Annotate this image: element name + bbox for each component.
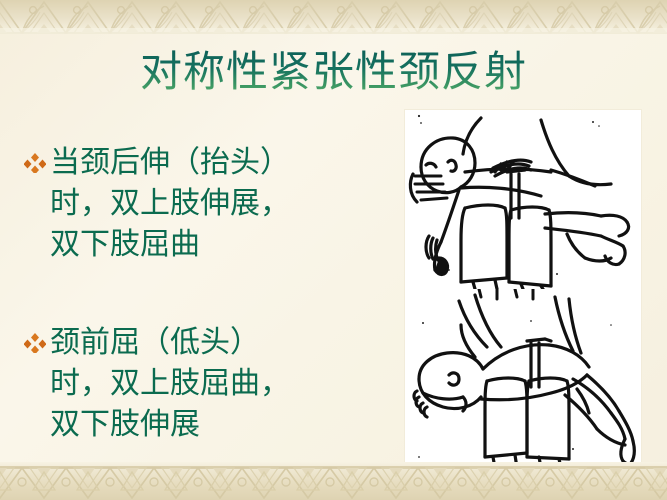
diamond-cluster-bullet-icon xyxy=(22,322,48,363)
figure-neck-extension xyxy=(405,110,641,289)
bullet-2-text-line-1: 颈前屈（低头） xyxy=(50,322,260,363)
bottom-ornamental-border xyxy=(0,462,667,500)
bullet-1-line-1: 当颈后伸（抬头） xyxy=(22,142,390,183)
slide-title: 对称性紧张性颈反射 xyxy=(0,48,667,98)
top-ornamental-border xyxy=(0,0,667,34)
figure-panel xyxy=(405,110,641,468)
slide-canvas: 对称性紧张性颈反射 当颈后伸（抬头） 时，双上肢伸展， 双下肢屈曲 xyxy=(0,0,667,500)
figure-neck-flexion xyxy=(405,289,641,468)
bullet-2-line-1: 颈前屈（低头） xyxy=(22,322,390,363)
bullet-1-text-line-1: 当颈后伸（抬头） xyxy=(50,142,290,183)
diamond-cluster-bullet-icon xyxy=(22,142,48,183)
bullet-1-text-line-2: 时，双上肢伸展， xyxy=(22,183,390,224)
bullet-block-1: 当颈后伸（抬头） 时，双上肢伸展， 双下肢屈曲 xyxy=(22,142,390,265)
bullet-2-text-line-2: 时，双上肢屈曲， xyxy=(22,363,390,404)
bullet-block-2: 颈前屈（低头） 时，双上肢屈曲， 双下肢伸展 xyxy=(22,322,390,445)
bullet-1-text-line-3: 双下肢屈曲 xyxy=(22,224,390,265)
bullet-2-text-line-3: 双下肢伸展 xyxy=(22,404,390,445)
